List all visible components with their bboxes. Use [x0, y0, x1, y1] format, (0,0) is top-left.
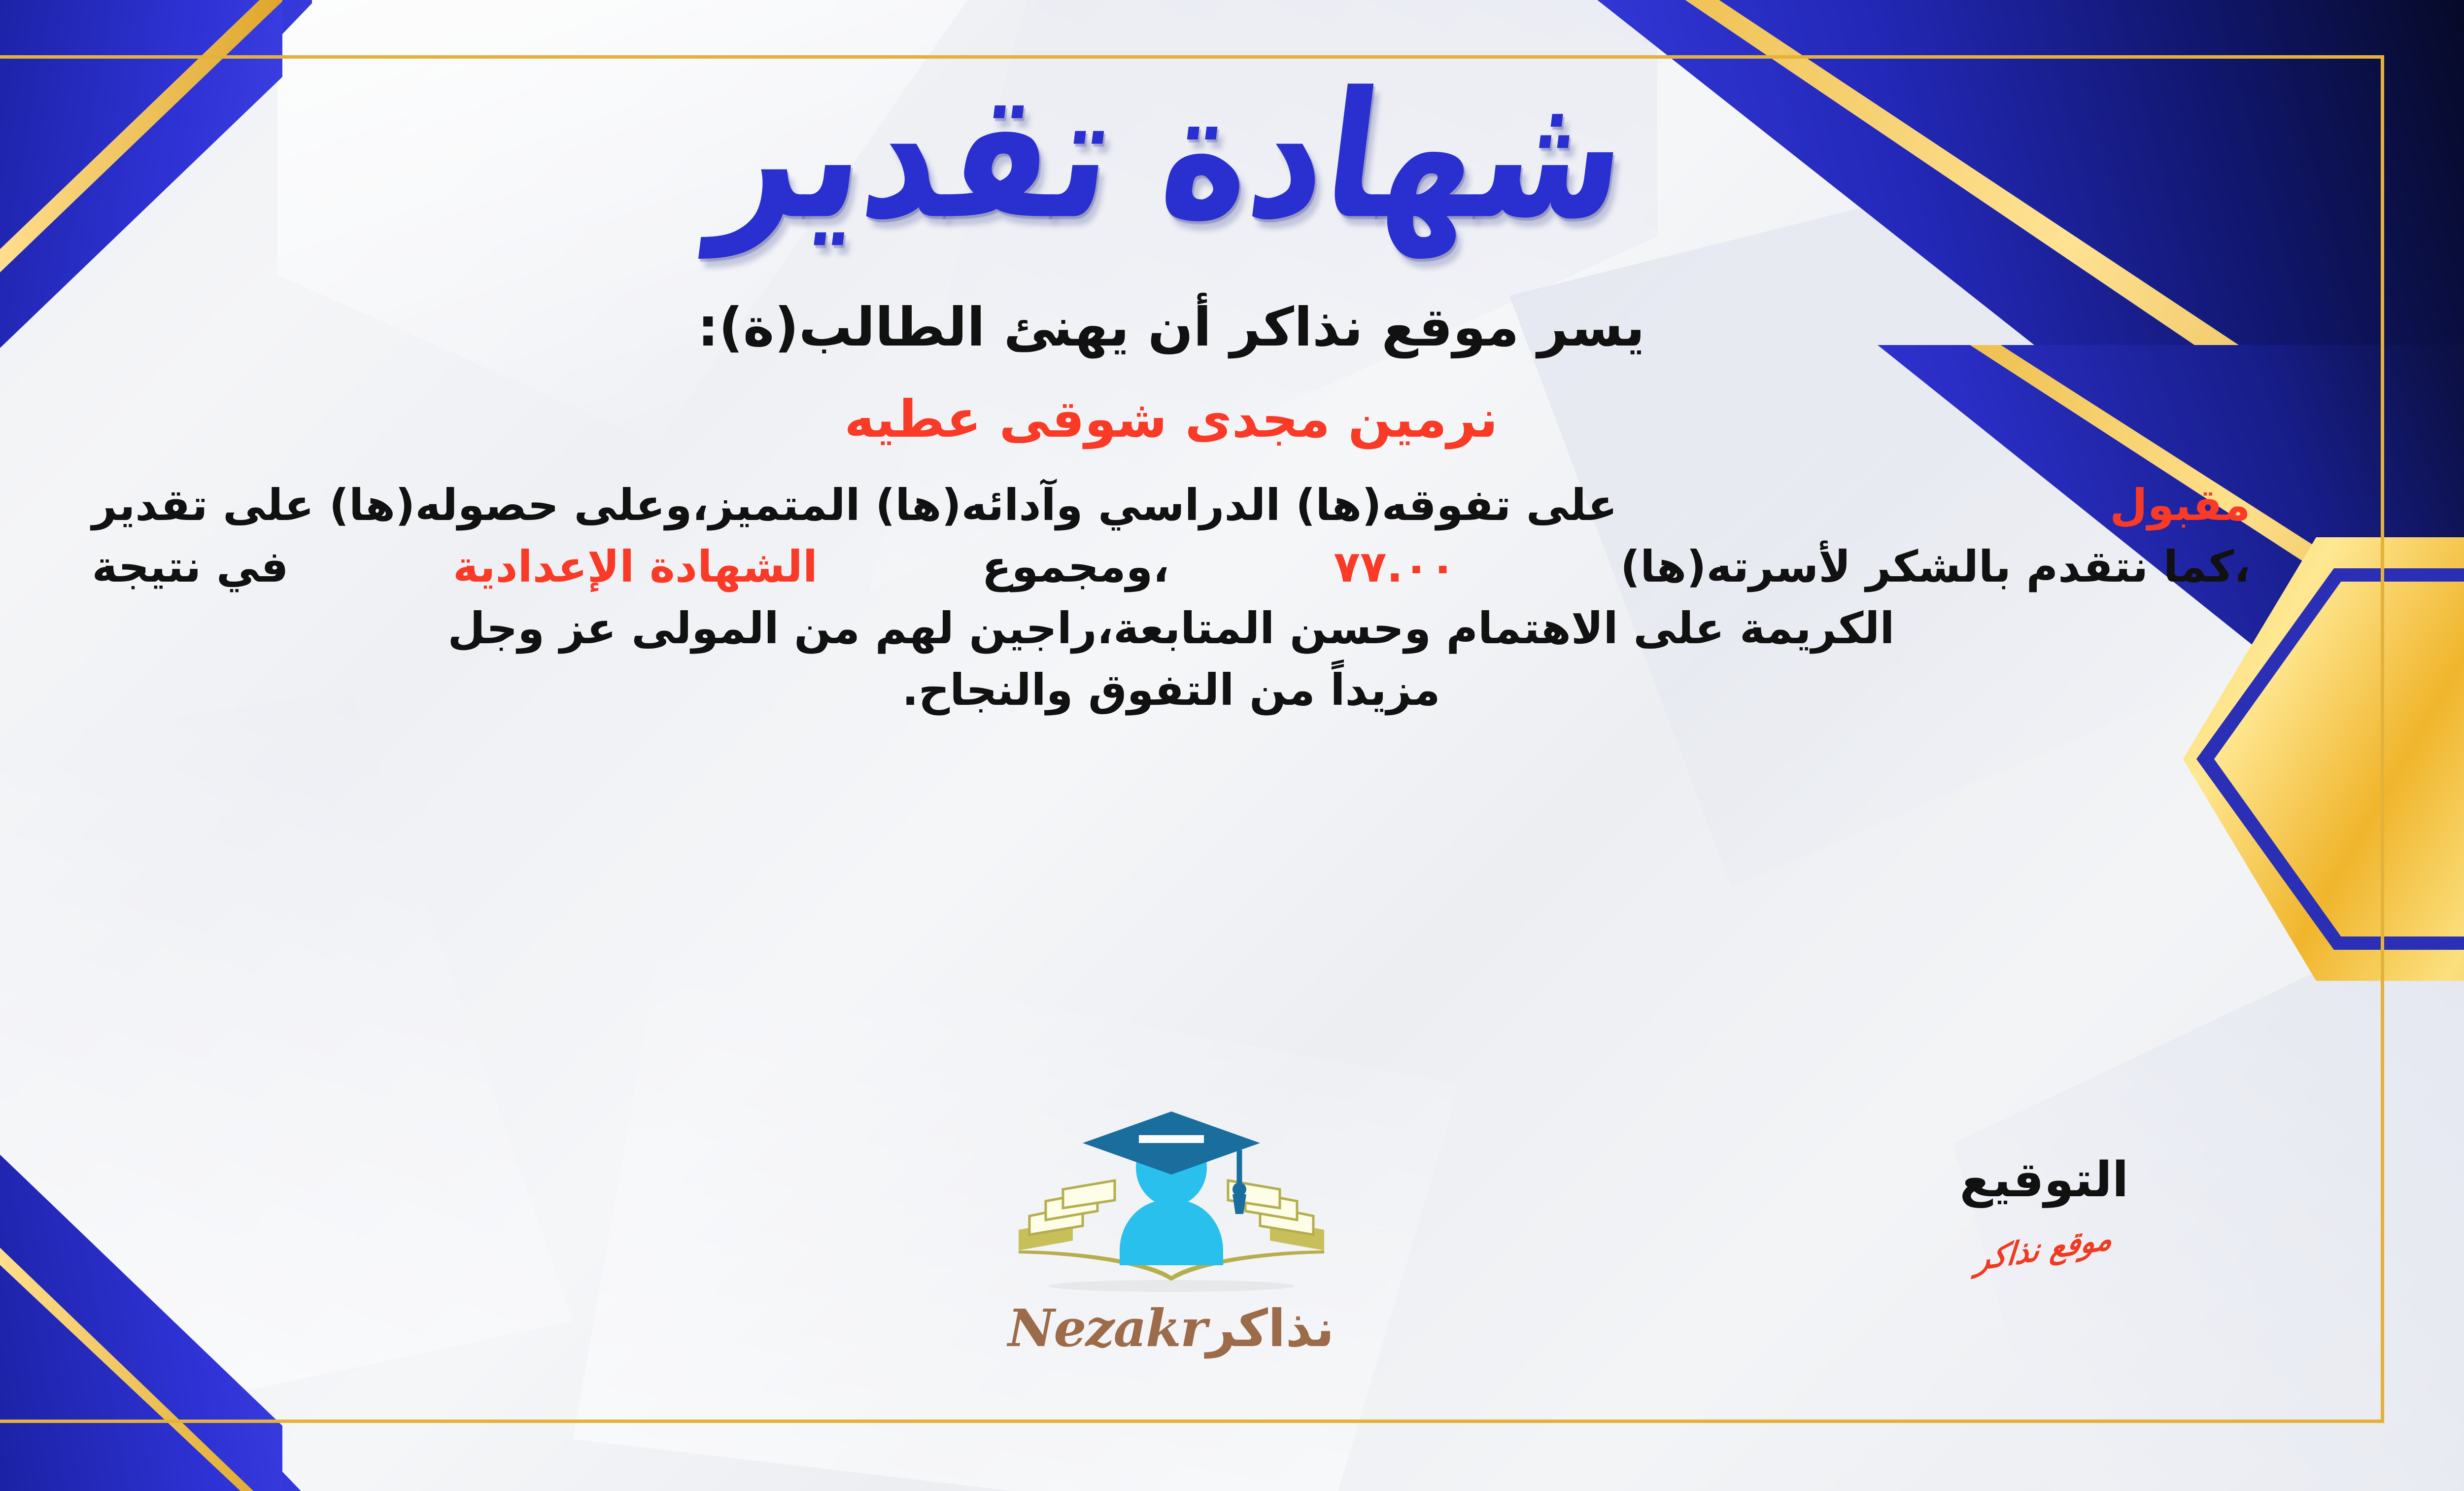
- certificate-footer: التوقيع موقع نذاكر: [0, 1093, 2384, 1408]
- body-line-1: مقبول على تفوقه(ها) الدراسي وآدائه(ها) ا…: [92, 475, 2251, 536]
- grade-value: مقبول: [2110, 475, 2250, 536]
- site-logo-mark: [999, 1103, 1344, 1295]
- body-line-1-text: على تفوقه(ها) الدراسي وآدائه(ها) المتميز…: [92, 475, 1617, 536]
- body-line-2-prefix: في نتيجة: [92, 536, 289, 598]
- body-line-4: مزيداً من التفوق والنجاح.: [92, 659, 2251, 721]
- body-line-2: ،كما نتقدم بالشكر لأسرته(ها) ٧٧.٠٠ ،ومجم…: [92, 536, 2251, 598]
- signature-block: التوقيع موقع نذاكر: [1916, 1152, 2172, 1267]
- logo-text-latin: Nezakr: [1008, 1298, 1206, 1358]
- signature-handwriting: موقع نذاكر: [1916, 1210, 2172, 1287]
- certificate-title: شهادة تقدير: [707, 69, 1636, 243]
- body-line-2-suffix: ،كما نتقدم بالشكر لأسرته(ها): [1620, 536, 2251, 598]
- signature-label: التوقيع: [1916, 1152, 2172, 1208]
- total-score-value: ٧٧.٠٠: [1334, 536, 1456, 598]
- site-logo-text: نذاكرNezakr: [984, 1298, 1359, 1358]
- certificate-title-block: شهادة تقدير: [0, 60, 2384, 252]
- congratulation-intro-line: يسر موقع نذاكر أن يهنئ الطالب(ة):: [697, 297, 1645, 358]
- exam-name: الشهادة الإعدادية: [453, 536, 818, 598]
- body-line-3: الكريمة على الاهتمام وحسن المتابعة،راجين…: [92, 598, 2251, 659]
- logo-graphic: [999, 1103, 1344, 1295]
- certificate-content: شهادة تقدير يسر موقع نذاكر أن يهنئ الطال…: [0, 55, 2384, 1423]
- student-name: نرمين مجدى شوقى عطيه: [844, 389, 1498, 449]
- total-score-label: ،ومجموع: [982, 536, 1169, 598]
- certificate-body-text: مقبول على تفوقه(ها) الدراسي وآدائه(ها) ا…: [92, 475, 2251, 721]
- certificate-page: شهادة تقدير يسر موقع نذاكر أن يهنئ الطال…: [0, 0, 2464, 1491]
- site-logo-block: نذاكرNezakr: [984, 1103, 1359, 1358]
- logo-text-arabic: نذاكر: [1206, 1298, 1335, 1358]
